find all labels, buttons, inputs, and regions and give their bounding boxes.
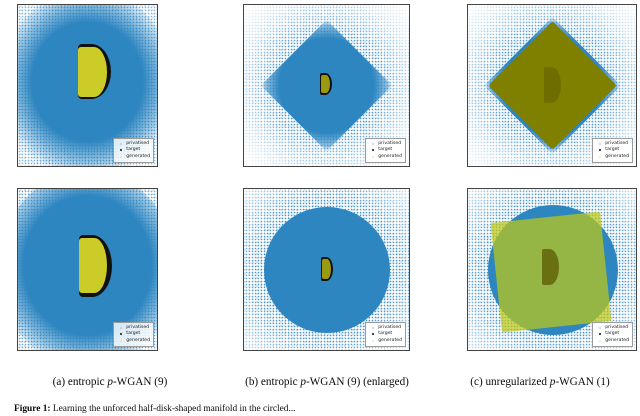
generated-shape [79,238,107,293]
legend-item-generated: generated [368,154,402,160]
generated-dot-icon [595,156,604,158]
figure-caption-text: Learning the unforced half-disk-shaped m… [53,404,296,414]
legend-panel-a-top: privatised target generated [113,138,154,163]
legend-item-generated: generated [368,338,402,344]
legend-item-generated: generated [595,338,629,344]
target-dot-icon [595,333,604,335]
subcaption-c-prefix: (c) unregularized [470,376,550,388]
legend-item-generated: generated [116,154,150,160]
figure-caption-label: Figure 1: [14,404,51,414]
privatised-dot-icon [368,327,377,329]
privatised-dot-icon [595,143,604,145]
legend-panel-a-bottom: privatised target generated [113,322,154,347]
subcaption-a-suffix: -WGAN (9) [113,376,167,388]
panel-b-top: privatised target generated [243,4,410,167]
target-dot-icon [116,149,125,151]
subcaption-a: (a) entropic p-WGAN (9) [10,376,210,388]
generated-shape [321,75,330,93]
legend-panel-c-bottom: privatised target generated [592,322,633,347]
panel-a-top: privatised target generated [17,4,158,167]
legend-label-generated: generated [604,154,629,160]
legend-label-generated: generated [125,338,150,344]
legend-label-generated: generated [604,338,629,344]
panel-b-bottom: privatised target generated [243,188,410,351]
target-dot-icon [368,333,377,335]
panel-a-bottom: privatised target generated [17,188,158,351]
legend-item-generated: generated [595,154,629,160]
privatised-dot-icon [595,327,604,329]
subcaption-b-prefix: (b) entropic [245,376,300,388]
subcaption-b-suffix: -WGAN (9) (enlarged) [306,376,409,388]
legend-label-generated: generated [377,338,402,344]
figure-caption: Figure 1: Learning the unforced half-dis… [14,404,626,415]
target-dot-icon [595,149,604,151]
panel-c-top: privatised target generated [467,4,637,167]
figure-container: privatised target generated privatised [0,0,640,416]
legend-panel-c-top: privatised target generated [592,138,633,163]
subcaption-c-suffix: -WGAN (1) [555,376,609,388]
target-dot-icon [116,333,125,335]
subcaption-a-prefix: (a) entropic [53,376,108,388]
privatised-dot-icon [368,143,377,145]
generated-dot-icon [116,340,125,342]
privatised-dot-icon [116,143,125,145]
legend-label-generated: generated [125,154,150,160]
generated-shape [322,259,331,279]
subcaption-c: (c) unregularized p-WGAN (1) [440,376,640,388]
panel-c-bottom: privatised target generated [467,188,637,351]
target-dot-icon [368,149,377,151]
generated-shape [78,47,107,97]
generated-dot-icon [368,156,377,158]
subcaption-b: (b) entropic p-WGAN (9) (enlarged) [212,376,442,388]
legend-panel-b-top: privatised target generated [365,138,406,163]
legend-label-generated: generated [377,154,402,160]
generated-dot-icon [595,340,604,342]
legend-item-generated: generated [116,338,150,344]
legend-panel-b-bottom: privatised target generated [365,322,406,347]
generated-dot-icon [116,156,125,158]
privatised-dot-icon [116,327,125,329]
generated-dot-icon [368,340,377,342]
